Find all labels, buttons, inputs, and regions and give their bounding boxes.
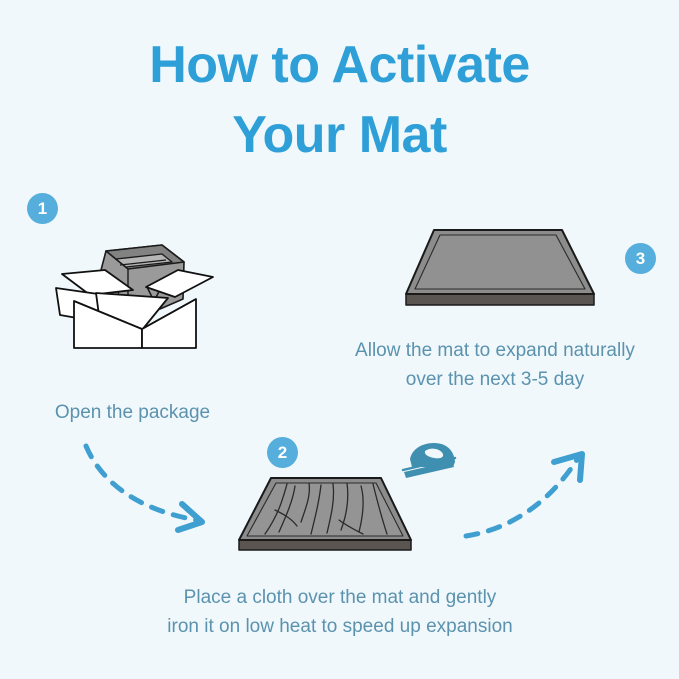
step-1-caption: Open the package — [0, 398, 265, 427]
step-2-caption-line-1: Place a cloth over the mat and gently — [110, 583, 570, 612]
page-title: How to Activate Your Mat — [0, 30, 679, 170]
iron-icon — [398, 437, 460, 485]
arrow-step1-to-step2 — [78, 440, 228, 545]
page-title-line-1: How to Activate — [0, 30, 679, 100]
arrow-step2-to-step3 — [462, 440, 602, 545]
open-box-with-mat-icon — [50, 215, 220, 350]
step-2-caption-line-2: iron it on low heat to speed up expansio… — [110, 612, 570, 641]
page-title-line-2: Your Mat — [0, 100, 679, 170]
step-2-number-badge: 2 — [267, 437, 298, 468]
step-3-caption-line-1: Allow the mat to expand naturally — [315, 336, 675, 365]
infographic-canvas: How to Activate Your Mat 1 — [0, 0, 679, 679]
step-3-caption-line-2: over the next 3-5 day — [315, 365, 675, 394]
step-2-caption: Place a cloth over the mat and gently ir… — [110, 583, 570, 642]
wrinkled-mat-icon — [235, 470, 415, 565]
step-3-number-badge: 3 — [625, 243, 656, 274]
flat-mat-icon — [400, 222, 600, 317]
step-1-caption-line-1: Open the package — [0, 398, 265, 427]
step-3-caption: Allow the mat to expand naturally over t… — [315, 336, 675, 395]
